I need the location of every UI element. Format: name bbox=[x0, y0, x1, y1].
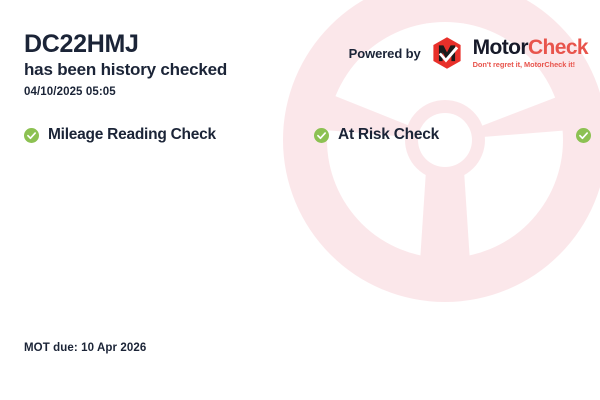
registration-plate: DC22HMJ bbox=[24, 30, 227, 58]
green-check-circle-icon bbox=[314, 128, 329, 143]
check-item-write-offs: Write-Offs Check bbox=[576, 117, 600, 154]
wordmark-check: Check bbox=[528, 36, 588, 59]
brand-tagline: Don't regret it, MotorCheck it! bbox=[473, 61, 588, 68]
motorcheck-hexagon-m-icon bbox=[430, 36, 464, 70]
wordmark-text: MotorCheck bbox=[473, 37, 588, 58]
green-check-circle-icon bbox=[24, 128, 39, 143]
check-item-at-risk: At Risk Check bbox=[314, 117, 576, 154]
page-subtitle: has been history checked bbox=[24, 59, 227, 81]
vehicle-history-check-card: DC22HMJ has been history checked 04/10/2… bbox=[0, 0, 600, 400]
powered-by-label: Powered by bbox=[349, 46, 421, 61]
green-check-circle-icon bbox=[576, 128, 591, 143]
motorcheck-wordmark: MotorCheck Don't regret it, MotorCheck i… bbox=[473, 37, 588, 68]
check-label: Mileage Reading Check bbox=[48, 126, 216, 144]
card-content: DC22HMJ has been history checked 04/10/2… bbox=[0, 0, 600, 400]
header-left: DC22HMJ has been history checked 04/10/2… bbox=[24, 30, 227, 98]
check-timestamp: 04/10/2025 05:05 bbox=[24, 86, 227, 98]
powered-by-brand-lockup: Powered by MotorCheck Don't regret it, M… bbox=[349, 36, 588, 70]
history-check-list: Mileage Reading Check At Risk Check Writ… bbox=[24, 117, 576, 154]
check-item-mileage-reading: Mileage Reading Check bbox=[24, 117, 314, 154]
check-label: At Risk Check bbox=[338, 126, 439, 144]
mot-due-date: MOT due: 10 Apr 2026 bbox=[24, 342, 146, 354]
wordmark-motor: Motor bbox=[473, 36, 528, 59]
